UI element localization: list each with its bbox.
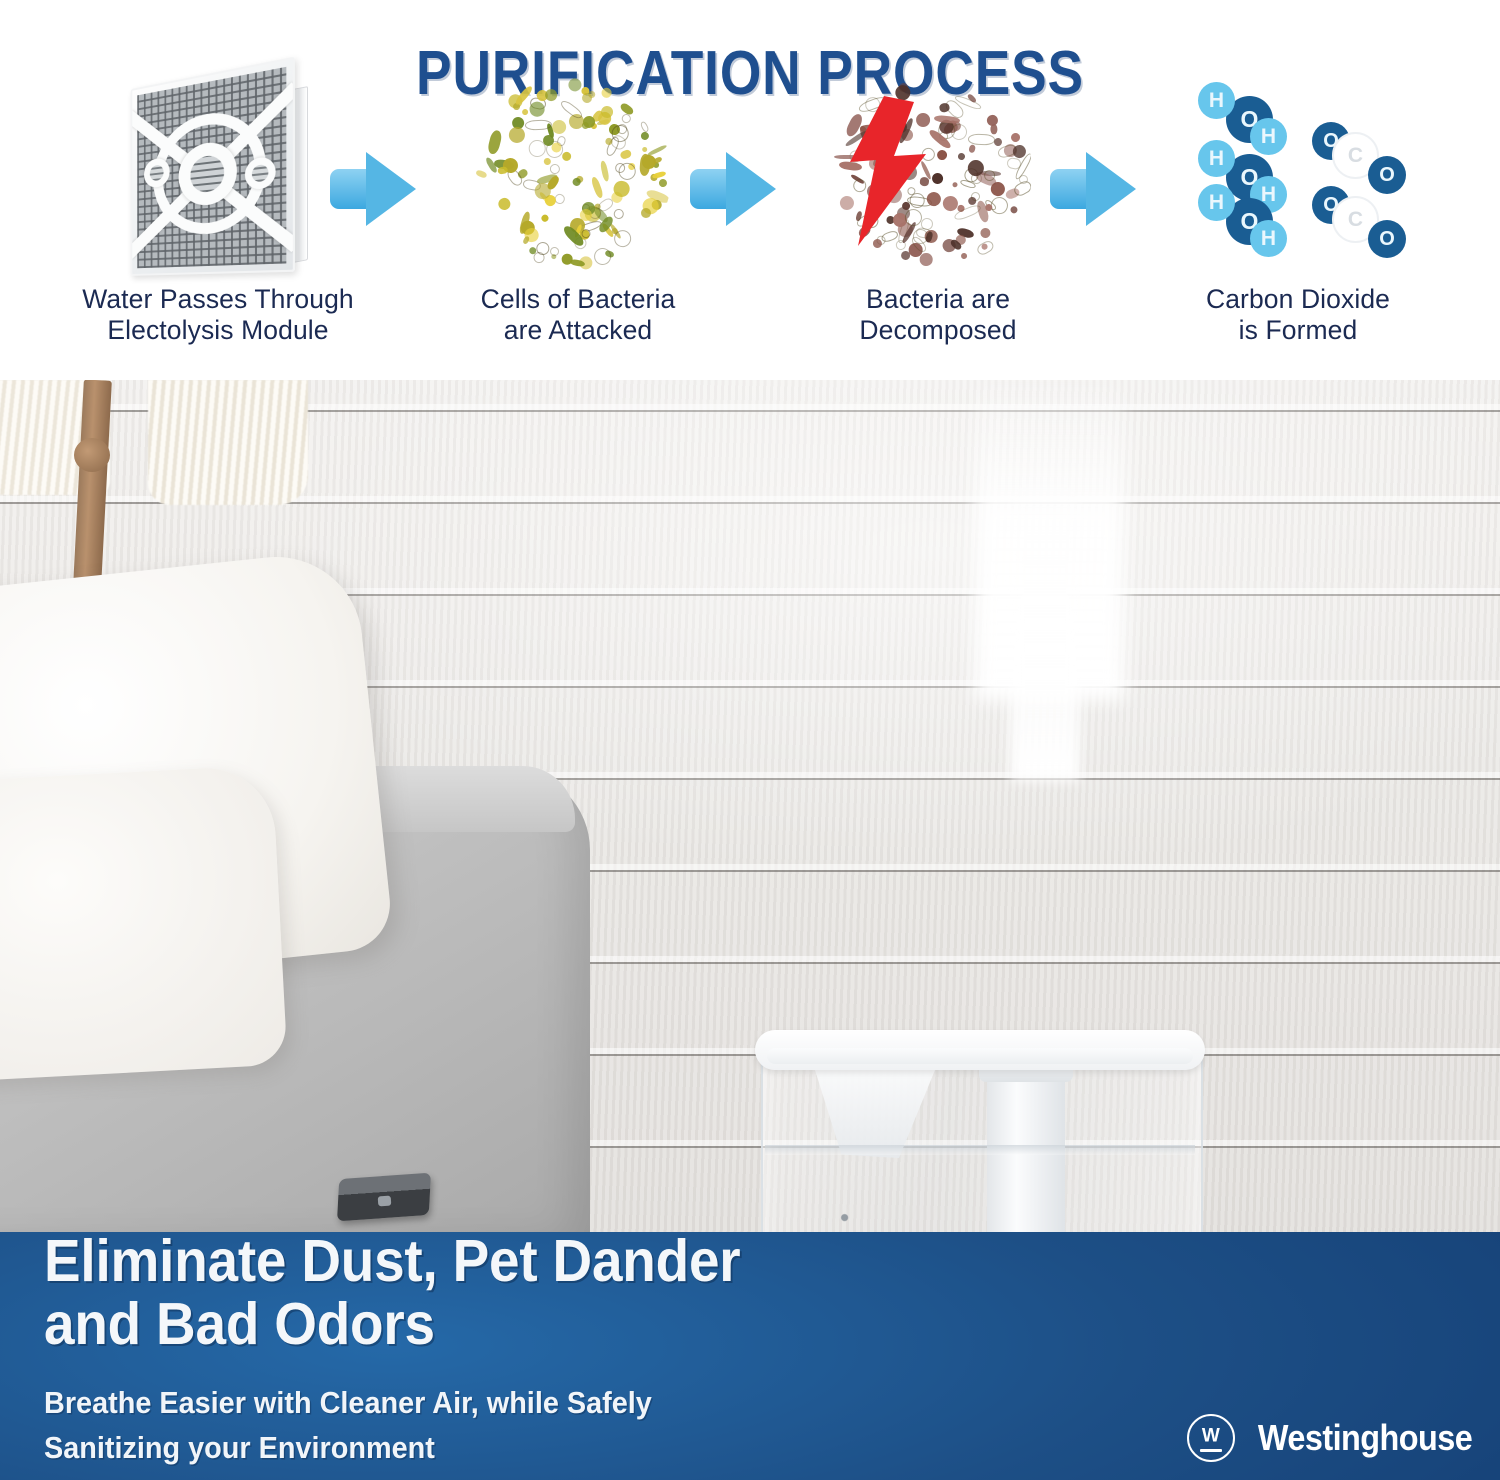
process-step-bacteria-cells: Cells of Bacteria are Attacked xyxy=(428,70,728,370)
process-step-carbon-dioxide: O H H O H H O H H O C O O C O xyxy=(1148,70,1448,370)
step-label-line2: are Attacked xyxy=(504,315,653,345)
filter-module-icon xyxy=(68,70,368,275)
bacteria-cluster-bolt-icon xyxy=(788,70,1088,275)
oxygen-atom: O xyxy=(1368,220,1406,258)
step-label-line2: Electolysis Module xyxy=(107,315,328,345)
macrame-decor xyxy=(148,380,308,505)
mist-plume-core xyxy=(1010,480,1080,780)
process-step-electrolysis-module: Water Passes Through Electolysis Module xyxy=(68,70,368,370)
brand-mark-letter: W xyxy=(1202,1427,1220,1446)
hydrogen-atom: H xyxy=(1198,82,1235,119)
westinghouse-mark-icon: W xyxy=(1187,1414,1235,1462)
hydrogen-atom: H xyxy=(1198,140,1235,177)
step-label-line1: Water Passes Through xyxy=(82,284,354,314)
purification-process-panel: PURIFICATION PROCESS Water Passes Throug… xyxy=(0,0,1500,380)
process-step-label: Bacteria are Decomposed xyxy=(788,284,1088,346)
humidifier-device: Westinghouse 68 xyxy=(745,1030,1215,1232)
process-step-label: Cells of Bacteria are Attacked xyxy=(428,284,728,346)
marketing-banner: Eliminate Dust, Pet Dander and Bad Odors… xyxy=(0,1232,1500,1480)
water-splash xyxy=(823,1194,895,1232)
remote-control-button[interactable] xyxy=(378,1196,392,1207)
hydrogen-atom: H xyxy=(1250,220,1287,257)
banner-sub-line1: Breathe Easier with Cleaner Air, while S… xyxy=(44,1385,652,1420)
product-lifestyle-photo: Westinghouse 68 xyxy=(0,380,1500,1232)
banner-headline: Eliminate Dust, Pet Dander and Bad Odors xyxy=(44,1230,1160,1356)
water-level-line xyxy=(765,1145,1195,1155)
arrow-right-icon xyxy=(1050,152,1136,226)
brand-name: Westinghouse xyxy=(1258,1417,1472,1459)
step-label-line2: is Formed xyxy=(1239,315,1358,345)
lightning-bolt-icon xyxy=(842,96,934,246)
hydrogen-atom: H xyxy=(1198,184,1235,221)
banner-headline-line1: Eliminate Dust, Pet Dander xyxy=(44,1228,740,1294)
bacteria-cluster-yellow-icon xyxy=(428,70,728,275)
step-label-line1: Bacteria are xyxy=(866,284,1010,314)
molecules-h2o-co2-icon: O H H O H H O H H O C O O C O xyxy=(1148,70,1448,275)
banner-headline-line2: and Bad Odors xyxy=(44,1291,435,1357)
process-step-label: Carbon Dioxide is Formed xyxy=(1148,284,1448,346)
brand-mark-underline xyxy=(1200,1449,1222,1452)
oxygen-atom: O xyxy=(1368,156,1406,194)
brand-logo: W Westinghouse xyxy=(1187,1414,1484,1462)
arrow-right-icon xyxy=(330,152,416,226)
wooden-pole-knot xyxy=(74,438,110,472)
process-step-label: Water Passes Through Electolysis Module xyxy=(68,284,368,346)
process-step-bacteria-decomposed: Bacteria are Decomposed xyxy=(788,70,1088,370)
banner-sub-line2: Sanitizing your Environment xyxy=(44,1430,435,1465)
banner-subheadline: Breathe Easier with Cleaner Air, while S… xyxy=(44,1380,1114,1470)
tank-lid-inner xyxy=(767,1048,1193,1064)
arrow-right-icon xyxy=(690,152,776,226)
white-pillow-second xyxy=(0,765,288,1086)
step-label-line2: Decomposed xyxy=(859,315,1016,345)
hydrogen-atom: H xyxy=(1250,118,1287,155)
step-label-line1: Carbon Dioxide xyxy=(1206,284,1390,314)
step-label-line1: Cells of Bacteria xyxy=(481,284,676,314)
